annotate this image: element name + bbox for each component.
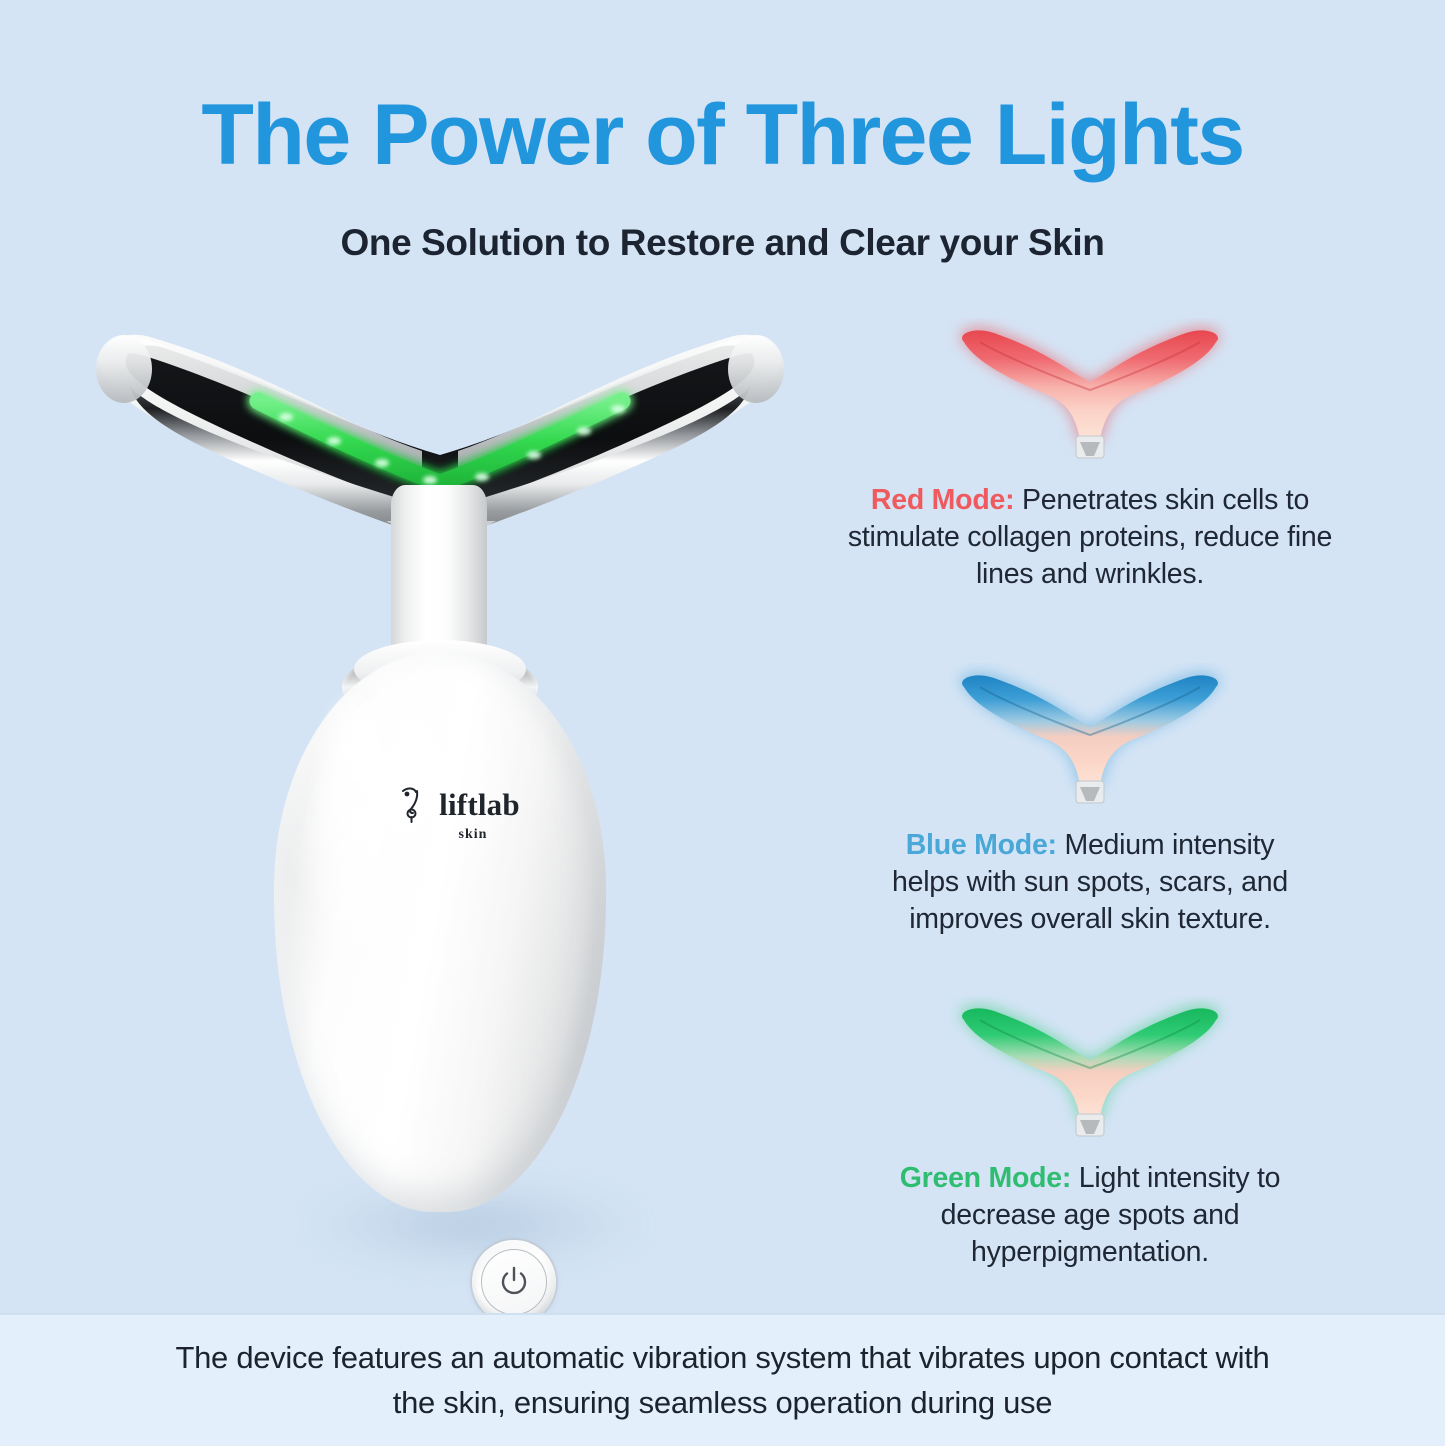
power-button[interactable] <box>472 1240 556 1324</box>
mode-icon-wrap-green <box>790 996 1390 1146</box>
mode-text-green: Green Mode: Light intensity to decrease … <box>790 1146 1390 1271</box>
device-head-red-glow-icon <box>940 318 1240 468</box>
mode-block-red: Red Mode: Penetrates skin cells to stimu… <box>790 318 1390 593</box>
mode-text-red: Red Mode: Penetrates skin cells to stimu… <box>790 468 1390 593</box>
device-head-blue-glow-icon <box>940 663 1240 813</box>
brand-logo: liftlab skin <box>374 784 544 846</box>
mode-label-red: Red Mode: <box>871 484 1014 516</box>
footer-band: The device features an automatic vibrati… <box>0 1313 1445 1446</box>
device-body-highlight <box>316 700 396 1030</box>
modes-list: Red Mode: Penetrates skin cells to stimu… <box>790 318 1390 1289</box>
mode-label-blue: Blue Mode: <box>906 829 1057 861</box>
mode-icon-wrap-red <box>790 318 1390 468</box>
mode-block-green: Green Mode: Light intensity to decrease … <box>790 996 1390 1271</box>
page-title: The Power of Three Lights <box>0 92 1445 178</box>
brand-subname: skin <box>459 827 488 843</box>
device-head-green-glow-icon <box>940 996 1240 1146</box>
brand-name: liftlab <box>439 789 520 820</box>
face-profile-icon <box>398 784 432 824</box>
mode-label-green: Green Mode: <box>900 1162 1071 1194</box>
footer-text: The device features an automatic vibrati… <box>158 1336 1288 1424</box>
page-subtitle: One Solution to Restore and Clear your S… <box>0 178 1445 264</box>
blue-device-head <box>962 675 1218 785</box>
power-button-inner <box>481 1249 547 1315</box>
header: The Power of Three Lights One Solution t… <box>0 0 1445 264</box>
power-icon <box>497 1265 531 1299</box>
mode-block-blue: Blue Mode: Medium intensity helps with s… <box>790 663 1390 938</box>
mode-text-blue: Blue Mode: Medium intensity helps with s… <box>790 813 1390 938</box>
green-device-head <box>962 1009 1218 1119</box>
head-tip-left <box>96 335 152 403</box>
mode-icon-wrap-blue <box>790 663 1390 813</box>
product-device-illustration: liftlab skin <box>60 300 800 1300</box>
red-device-head <box>962 330 1218 440</box>
head-tip-right <box>728 335 784 403</box>
infographic-canvas: The Power of Three Lights One Solution t… <box>0 0 1445 1446</box>
